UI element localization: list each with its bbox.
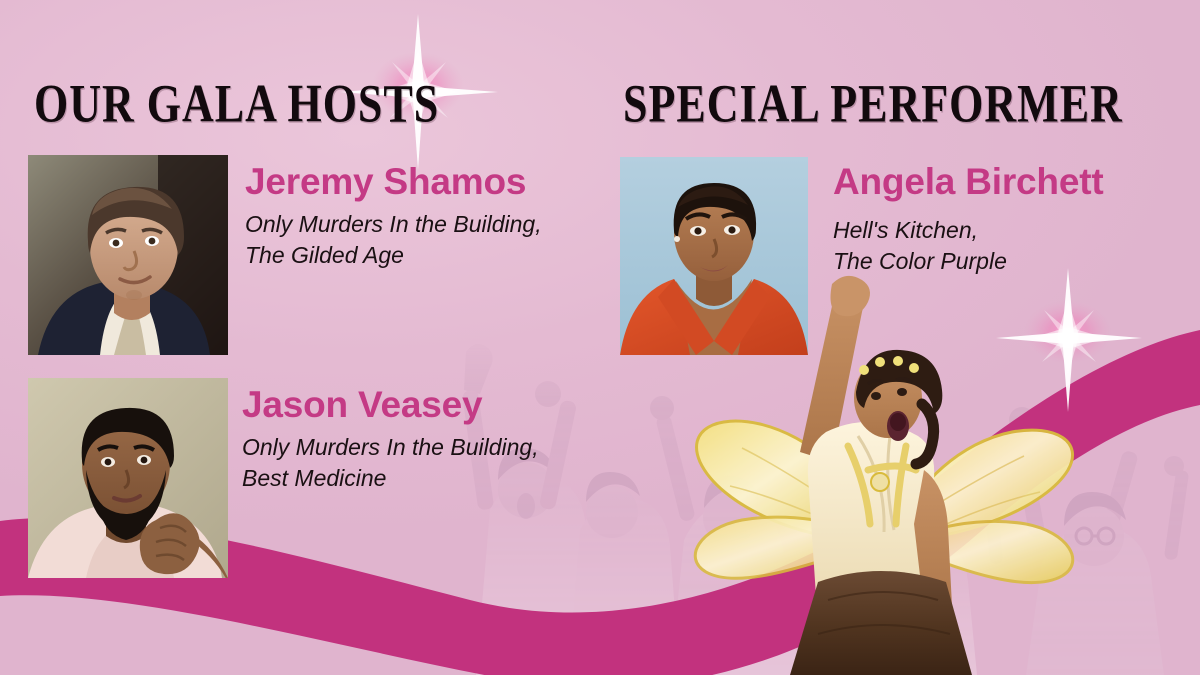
credit-line: Only Murders In the Building, <box>242 432 539 463</box>
person-name-host-1: Jeremy Shamos <box>245 161 526 203</box>
gala-slide: Our Gala Hosts Special Performer Jeremy … <box>0 0 1200 675</box>
credit-line: Hell's Kitchen, <box>833 215 1007 246</box>
person-name-host-2: Jason Veasey <box>242 384 482 426</box>
person-credits-host-2: Only Murders In the Building, Best Medic… <box>242 432 539 494</box>
section-heading-performer: Special Performer <box>623 73 1123 135</box>
person-credits-host-1: Only Murders In the Building, The Gilded… <box>245 209 542 271</box>
person-name-performer: Angela Birchett <box>833 161 1103 203</box>
credit-line: Best Medicine <box>242 463 539 494</box>
section-heading-hosts: Our Gala Hosts <box>34 73 439 135</box>
ensemble-cast-photo <box>430 330 1200 675</box>
headshot-angela-birchett <box>620 157 808 355</box>
credit-line: The Color Purple <box>833 246 1007 277</box>
headshot-jeremy-shamos <box>28 155 228 355</box>
credit-line: Only Murders In the Building, <box>245 209 542 240</box>
credit-line: The Gilded Age <box>245 240 542 271</box>
person-credits-performer: Hell's Kitchen, The Color Purple <box>833 215 1007 277</box>
headshot-jason-veasey <box>28 378 228 578</box>
